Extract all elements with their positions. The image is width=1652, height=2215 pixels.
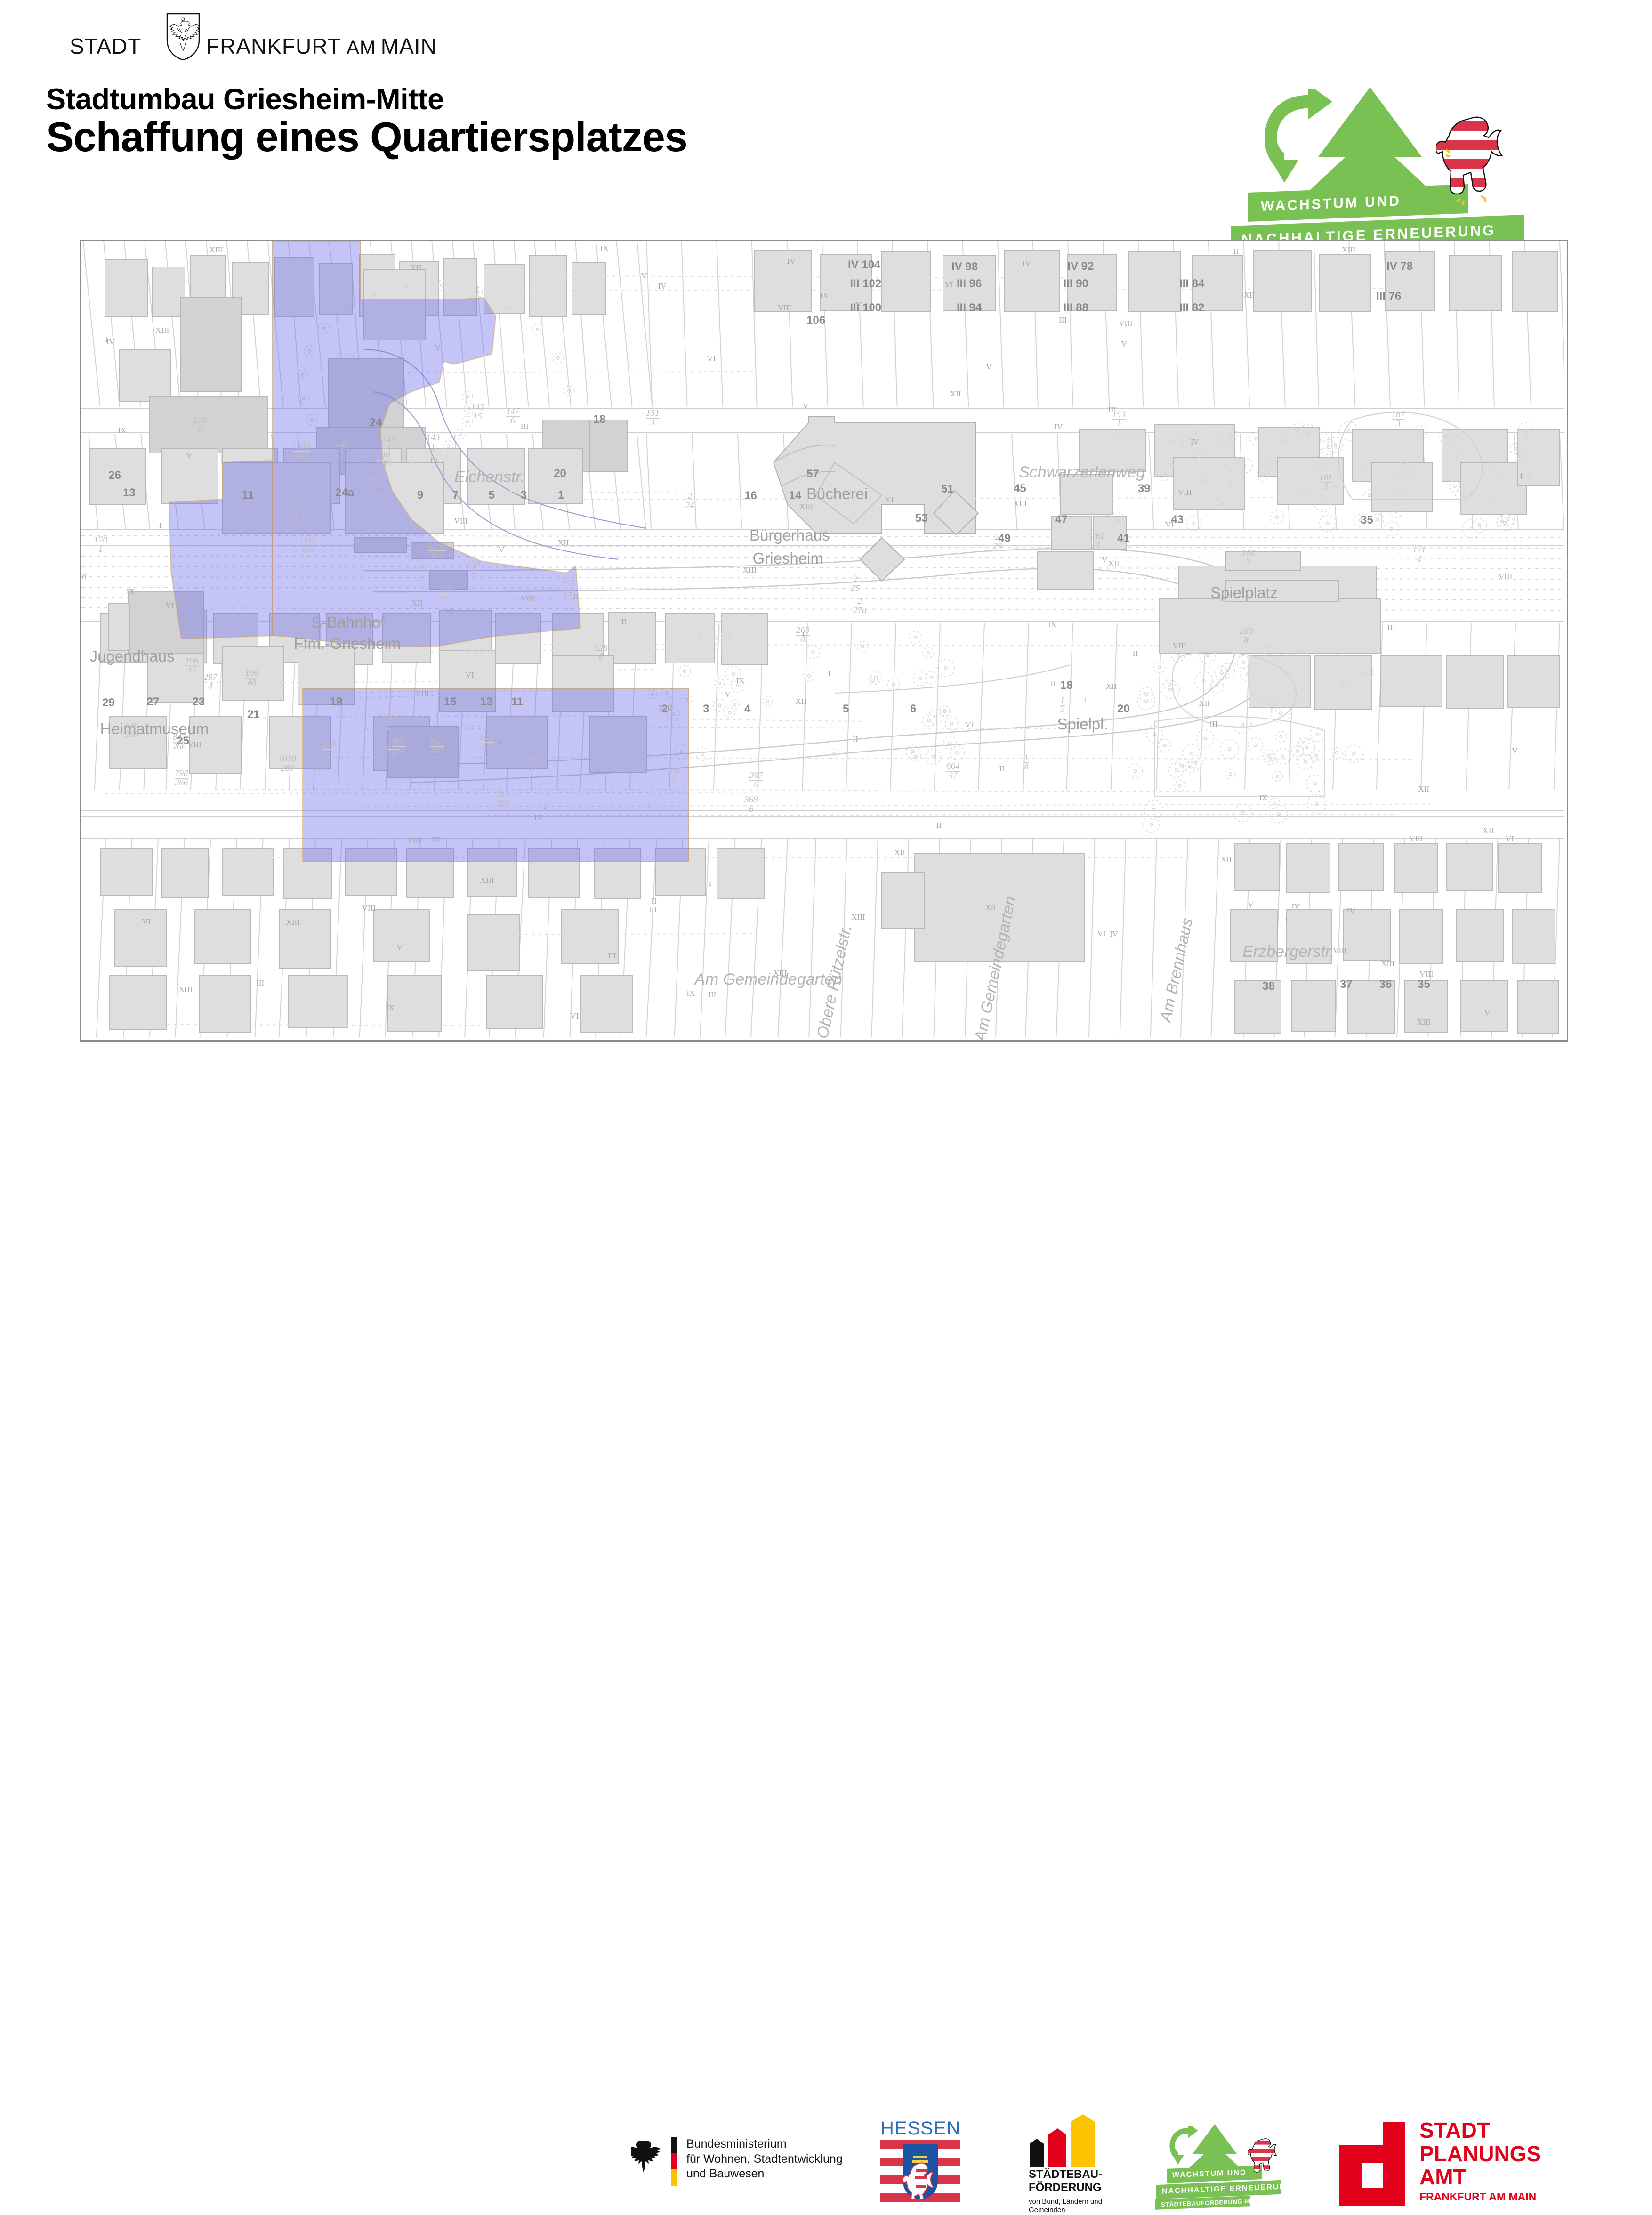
storey-marker: XIII [286, 918, 300, 927]
house-number: 16 [744, 489, 757, 502]
bmwsb-text: Bundesministerium für Wohnen, Stadtentwi… [686, 2137, 843, 2182]
storey-marker: VI [1097, 929, 1106, 938]
poi-label: Heimatmuseum [100, 720, 209, 738]
house-number: 7 [452, 489, 459, 502]
storey-marker: V [1248, 900, 1253, 909]
storey-marker: VIII [415, 689, 429, 699]
storey-marker: IX [736, 676, 744, 686]
parcel-number: 1410163 [299, 536, 317, 554]
house-number: 27 [147, 695, 160, 709]
house-number: 13 [480, 695, 493, 709]
parcel-number: 66437 [946, 762, 960, 780]
storey-marker: XIII [773, 969, 787, 978]
house-number: 23 [192, 695, 205, 709]
storey-marker: XII [796, 697, 807, 706]
page-subtitle: Stadtumbau Griesheim-Mitte [46, 82, 444, 116]
parcel-number: 3676 [749, 771, 763, 789]
parcel-number: 1248158 [428, 542, 446, 560]
storey-marker: III [1108, 405, 1116, 415]
storey-marker: XIII [480, 876, 494, 885]
spa-wordmark: STADT PLANUNGS AMT [1419, 2119, 1541, 2189]
storey-marker: II [1233, 247, 1238, 256]
storey-marker: V [986, 363, 992, 372]
house-black-icon [1030, 2139, 1044, 2167]
parcel-number: 227a [853, 597, 867, 615]
spa-line-3: AMT [1419, 2166, 1541, 2189]
parcel-number: 1873 [1392, 411, 1405, 428]
spa-subline: FRANKFURT AM MAIN [1419, 2191, 1536, 2203]
parcel-number: 1701 [94, 536, 107, 554]
house-number: 47 [1055, 513, 1068, 526]
wachstum2-band-2: NACHHALTIGE ERNEUERUNG [1156, 2180, 1281, 2199]
storey-marker: VI [1165, 520, 1174, 530]
footer-logo-staedtebaufoerderung: STÄDTEBAU- FÖRDERUNG von Bund, Ländern u… [1024, 2123, 1137, 2207]
storey-marker: II [853, 735, 858, 744]
parcel-number: 1681 [80, 573, 87, 590]
parcel-number: 1421163 [289, 504, 306, 522]
storey-marker: XII [1108, 559, 1120, 568]
storey-marker: VIII [1410, 834, 1423, 843]
house-number: 18 [593, 413, 606, 426]
house-number: 11 [511, 695, 523, 709]
storey-marker: XII [1483, 826, 1494, 835]
parcel-number: 229 [993, 533, 1002, 551]
poi-label: Bürgerhaus [749, 526, 830, 544]
house-number: IV 92 [1067, 260, 1094, 273]
storey-marker: II [621, 617, 626, 627]
storey-marker: IV [184, 451, 192, 461]
storey-marker: III [1387, 623, 1395, 632]
parcel-number: 1022280 [311, 755, 329, 773]
house-number: III 82 [1179, 301, 1204, 315]
storey-marker: VI [142, 917, 151, 927]
house-number: 3 [521, 489, 527, 502]
storey-marker: VIII [1173, 641, 1186, 651]
storey-marker: IV [1023, 259, 1031, 268]
hessen-lion-icon [1436, 113, 1507, 217]
storey-marker: I [709, 879, 712, 888]
parcel-number: 1366 [193, 416, 207, 434]
parcel-number: 2762 [382, 714, 395, 732]
street-label: Erzbergerstr. [1242, 943, 1334, 961]
house-number: 3 [703, 703, 709, 716]
storey-marker: IV [430, 456, 438, 465]
storey-marker: IV [658, 282, 667, 291]
page-footer: Bundesministerium für Wohnen, Stadtentwi… [0, 1055, 1652, 1168]
house-number: III 102 [850, 277, 881, 291]
house-number: 11 [242, 489, 254, 502]
storey-marker: V [499, 545, 504, 555]
storey-marker: VIII [1178, 488, 1192, 497]
parcel-number: 1513 [646, 409, 660, 427]
parcel-number: 12 [1060, 696, 1065, 714]
storey-marker: VIII [407, 836, 421, 846]
hessen-flag-icon [880, 2140, 960, 2203]
city-logo-text-stadt: STADT [70, 33, 141, 59]
house-number: 5 [489, 489, 495, 502]
storey-marker: I [544, 802, 547, 811]
house-number: 13 [123, 486, 136, 500]
storey-marker: II [936, 821, 942, 830]
storey-marker: VIII [1333, 946, 1346, 955]
storey-marker: XIII [743, 566, 757, 575]
storey-marker: III [521, 422, 529, 431]
storey-marker: XII [950, 389, 961, 399]
storey-marker: VIII [521, 594, 534, 604]
poi-label: Griesheim [753, 550, 823, 567]
storey-marker: XIII [179, 985, 193, 994]
storey-marker: VI [165, 601, 174, 611]
house-red-icon [1048, 2128, 1066, 2167]
storey-marker: XII [1418, 784, 1430, 794]
storey-marker: VIII [1499, 572, 1512, 582]
germany-flag-bar [671, 2137, 677, 2186]
page-header: STADT FRANKFURT AM MAIN Stadtumbau Gries… [0, 0, 1652, 226]
parcel-number: 1812 [1319, 474, 1333, 492]
parcel-number: 1431 [427, 434, 440, 452]
storey-marker: VI [375, 486, 384, 495]
house-number: 4 [744, 703, 750, 716]
parcel-number: 2974 [204, 673, 218, 691]
parcel-number: 25923 [561, 580, 575, 598]
house-number: IV 98 [951, 260, 978, 274]
storey-marker: I [1084, 695, 1087, 704]
house-number: III 88 [1064, 301, 1088, 315]
storey-marker: XIII [659, 703, 672, 713]
storey-marker: XII [1244, 291, 1255, 300]
house-number: 38 [1262, 980, 1275, 993]
storey-marker: V [497, 737, 502, 746]
frankfurt-eagle-crest-icon [166, 13, 200, 61]
parcel-number: 18 [1024, 754, 1029, 772]
footer-logo-hessen: HESSEN [880, 2118, 960, 2203]
storey-marker: XIII [851, 913, 865, 922]
storey-marker: I [828, 669, 830, 679]
storey-marker: II [573, 592, 578, 601]
hessen-wordmark: HESSEN [880, 2118, 960, 2139]
parcel-number: 19647 [185, 657, 199, 675]
storey-marker: IX [600, 244, 609, 253]
house-number: 57 [806, 468, 819, 481]
house-number: III 96 [957, 277, 982, 291]
storey-marker: VIII [1119, 319, 1132, 328]
storey-marker: XIII [1381, 959, 1394, 969]
storey-marker: IV [1347, 906, 1355, 916]
storey-marker: III [708, 990, 716, 1000]
storey-marker: III [649, 905, 657, 914]
storey-marker: XIII [799, 502, 813, 511]
storey-marker: IV [1191, 437, 1199, 447]
storey-marker: IX [686, 989, 695, 998]
parcel-number: 1476 [506, 407, 520, 425]
storey-marker: V [1121, 340, 1127, 349]
storey-marker: V [725, 690, 731, 699]
storey-marker: IV [787, 257, 796, 266]
poi-label: Spielpl. [1057, 715, 1108, 733]
house-number: 35 [1361, 514, 1373, 527]
storey-marker: I [648, 801, 651, 810]
footer-logo-wachstum: WACHSTUM UND NACHHALTIGE ERNEUERUNG STÄD… [1163, 2124, 1318, 2208]
storey-marker: IV [1482, 1008, 1490, 1018]
storey-marker: VIII [187, 740, 201, 749]
storey-marker: VI [965, 720, 974, 729]
storey-marker: III [1209, 719, 1217, 729]
parcel-number: 1288 [594, 644, 608, 662]
house-number: 6 [910, 703, 916, 716]
storey-marker: XIII [1417, 1018, 1431, 1027]
parcel-number: 847266 [173, 733, 186, 751]
storey-marker: III [1059, 315, 1067, 325]
house-number: 5 [843, 703, 849, 716]
storey-marker: VI [707, 354, 716, 364]
street-label: Eichenstr. [454, 468, 525, 486]
storey-marker: XIII [1221, 855, 1234, 865]
storey-marker: III [256, 978, 264, 988]
storey-marker: VIII [778, 303, 791, 313]
parcel-number: 3686 [744, 796, 758, 814]
storey-marker: VI [571, 1011, 579, 1021]
storey-marker: IV [1292, 902, 1300, 912]
storey-marker: I [105, 335, 108, 344]
house-number: 29 [102, 696, 115, 710]
storey-marker: XII [1106, 682, 1117, 691]
house-number: IV 78 [1386, 260, 1413, 273]
house-yellow-icon [1071, 2114, 1095, 2167]
house-number: 39 [1138, 482, 1151, 495]
storey-marker: IX [534, 813, 543, 823]
house-number: 9 [417, 489, 423, 502]
parcel-number: 813277 [529, 755, 542, 773]
house-number: 26 [108, 469, 121, 482]
house-number: III 90 [1064, 277, 1088, 291]
house-number: 45 [1014, 482, 1026, 495]
house-number: III 76 [1376, 290, 1401, 303]
parcel-number: 1584 [467, 559, 480, 577]
storey-marker: IX [386, 1003, 395, 1013]
street-label: Am Gemeindegarten [694, 970, 842, 989]
parcel-number: 225 [851, 575, 860, 593]
storey-marker: XII [985, 903, 996, 913]
house-number: 21 [247, 708, 260, 721]
storey-marker: IX [127, 587, 135, 597]
staedtebau-line-1: STÄDTEBAU- [1029, 2168, 1102, 2181]
storey-marker: V [1102, 555, 1107, 565]
parcel-number: 1714 [1412, 546, 1426, 564]
house-number: IV 104 [848, 259, 880, 272]
staedtebau-sub-2: Gemeinden [1029, 2206, 1102, 2215]
storey-marker: XII [558, 538, 569, 548]
storey-marker: XII [411, 598, 423, 608]
storey-marker: VIII [1419, 970, 1433, 979]
storey-marker: IX [445, 607, 454, 617]
footer-logo-bmwsb: Bundesministerium für Wohnen, Stadtentwi… [631, 2133, 847, 2190]
house-number: III 100 [850, 301, 881, 315]
parcel-number: 1020280 [278, 755, 296, 773]
house-number: 106 [806, 314, 825, 327]
house-number: 24 [370, 416, 382, 429]
parcel-number: 1303144 [292, 443, 310, 461]
parcel-number: 14515 [471, 404, 484, 421]
city-logo: STADT FRANKFURT AM MAIN [70, 12, 371, 64]
staedtebau-caption: STÄDTEBAU- FÖRDERUNG [1029, 2168, 1102, 2194]
poi-label: S-Bahnhof [311, 614, 385, 631]
footer-logo-stadtplanungsamt: STADT PLANUNGS AMT FRANKFURT AM MAIN [1339, 2119, 1603, 2208]
storey-marker: VI [945, 280, 953, 290]
storey-marker: XII [411, 263, 422, 273]
storey-marker: II [802, 630, 807, 639]
wachstum-band-1: WACHSTUM UND [1248, 184, 1468, 222]
storey-marker: I [1285, 916, 1288, 926]
poi-label: Ffm.-Griesheim [294, 635, 401, 653]
parcel-number: 224 [685, 492, 694, 510]
parcel-number: 798266 [175, 769, 188, 787]
house-number: 19 [330, 695, 343, 709]
parcel-number: 863281 [430, 737, 444, 755]
parcel-number: 1582 [439, 586, 452, 604]
poi-label: Jugendhaus [90, 647, 175, 665]
storey-marker: XIII [1013, 499, 1027, 509]
street-label: Schwarzerlenweg [1019, 463, 1145, 482]
house-number: 53 [915, 512, 928, 525]
parcel-number: 2608 [1240, 627, 1253, 645]
storey-marker: XII [894, 848, 905, 857]
hessen-lion-icon [1248, 2137, 1279, 2182]
storey-marker: V [803, 402, 808, 411]
storey-marker: VIII [454, 517, 468, 526]
spa-block-mark-icon [1339, 2122, 1405, 2206]
storey-marker: IX [1048, 620, 1056, 630]
parcel-number: 1614 [1091, 532, 1105, 550]
storey-marker: IV [1054, 422, 1063, 432]
house-number: 36 [1379, 978, 1392, 991]
parcel-number: 3005 [667, 767, 680, 784]
parcel-number: 1463 [335, 441, 349, 459]
house-number: III 84 [1179, 277, 1204, 291]
house-number: 1 [558, 489, 564, 502]
house-number: 35 [1418, 978, 1430, 991]
tree-icon [1186, 2124, 1243, 2171]
parcel-number: 815277 [480, 733, 494, 751]
house-number: III 94 [957, 301, 982, 315]
storey-marker: IX [118, 426, 126, 436]
storey-marker: VIII [362, 904, 376, 913]
storey-marker: VI [466, 671, 474, 680]
cadastral-map[interactable]: Eichenstr.SchwarzerlenwegAm Gemeindegart… [80, 240, 1568, 1042]
storey-marker: V [335, 487, 341, 496]
house-number: 15 [444, 695, 457, 709]
storey-marker: V [435, 343, 441, 353]
bmwsb-line-1: Bundesministerium [686, 2137, 843, 2152]
storey-marker: VI [1506, 834, 1514, 844]
bmwsb-line-2: für Wohnen, Stadtentwicklung [686, 2152, 843, 2167]
storey-marker: VI [885, 495, 894, 504]
house-number: 20 [1117, 703, 1130, 716]
storey-marker: IX [432, 835, 441, 845]
staedtebau-line-2: FÖRDERUNG [1029, 2181, 1102, 2194]
storey-marker: XIII [1342, 245, 1355, 255]
house-number: 18 [1060, 679, 1073, 692]
hessen-shield-lion-icon [903, 2144, 938, 2199]
storey-marker: II [999, 764, 1004, 774]
storey-marker: III [608, 951, 616, 961]
parcel-number: 1663 [1241, 550, 1255, 567]
spa-line-1: STADT [1419, 2119, 1541, 2142]
storey-marker: I [159, 521, 162, 530]
parcel-number: 862281 [392, 737, 406, 755]
storey-marker: II [651, 897, 656, 906]
storey-marker: V [641, 271, 647, 281]
house-number: 20 [554, 467, 566, 480]
spa-line-2: PLANUNGS [1419, 2142, 1541, 2166]
parcel-number: 1592 [413, 565, 427, 583]
city-logo-text-frankfurt: FRANKFURT AM MAIN [206, 33, 437, 59]
storey-marker: V [1512, 746, 1517, 756]
storey-marker: XII [1199, 699, 1210, 708]
storey-marker: II [1133, 649, 1138, 658]
bundesadler-icon [631, 2140, 663, 2176]
tree-icon [1304, 87, 1436, 195]
storey-marker: XIII [210, 245, 223, 255]
house-number: 37 [1340, 978, 1353, 991]
storey-marker: IV [1110, 930, 1118, 939]
parcel-number: 937280 [496, 790, 509, 808]
storey-marker: I [1520, 472, 1523, 482]
storey-marker: XIII [155, 326, 169, 335]
storey-marker: IX [820, 291, 829, 300]
storey-marker: II [1051, 679, 1056, 688]
storey-marker: V [855, 300, 861, 310]
house-number: 41 [1117, 532, 1130, 545]
parcel-number: 646266 [125, 722, 138, 740]
house-number: 51 [941, 483, 954, 496]
storey-marker: V [397, 943, 403, 952]
staedtebau-subcaption: von Bund, Ländern und Gemeinden [1029, 2198, 1102, 2215]
poi-label: Spielplatz [1210, 584, 1278, 602]
storey-marker: IX [1259, 793, 1267, 803]
bmwsb-line-3: und Bauwesen [686, 2166, 843, 2182]
poi-label: Bücherei [806, 485, 868, 503]
staedtebau-sub-1: von Bund, Ländern und [1029, 2198, 1102, 2207]
page-title: Schaffung eines Quartiersplatzes [46, 113, 687, 161]
parcel-number: 19648 [245, 669, 259, 687]
house-number: 14 [789, 489, 802, 502]
